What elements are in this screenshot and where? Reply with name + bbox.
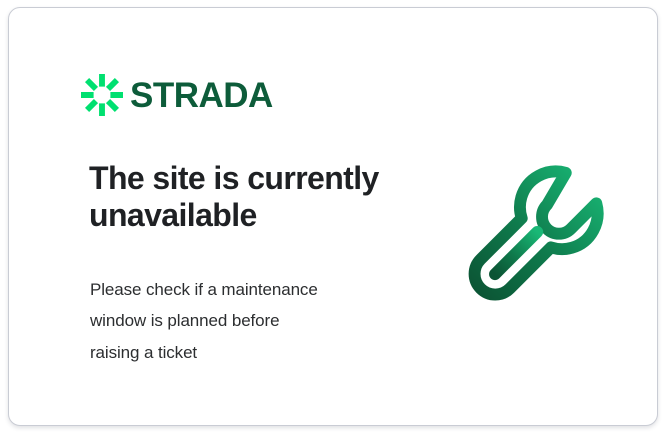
wrench-icon bbox=[461, 156, 626, 321]
brand-logo: STRADA bbox=[81, 74, 273, 116]
description-line: Please check if a maintenance bbox=[90, 274, 400, 305]
maintenance-card: STRADA The site is currently unavailable… bbox=[8, 7, 658, 426]
description-line: raising a ticket bbox=[90, 337, 400, 368]
page-title: The site is currently unavailable bbox=[89, 160, 419, 234]
error-page: STRADA The site is currently unavailable… bbox=[0, 0, 666, 436]
description-line: window is planned before bbox=[90, 305, 400, 336]
brand-wordmark: STRADA bbox=[130, 78, 273, 113]
asterisk-star-icon bbox=[81, 74, 123, 116]
page-description: Please check if a maintenance window is … bbox=[90, 274, 400, 368]
